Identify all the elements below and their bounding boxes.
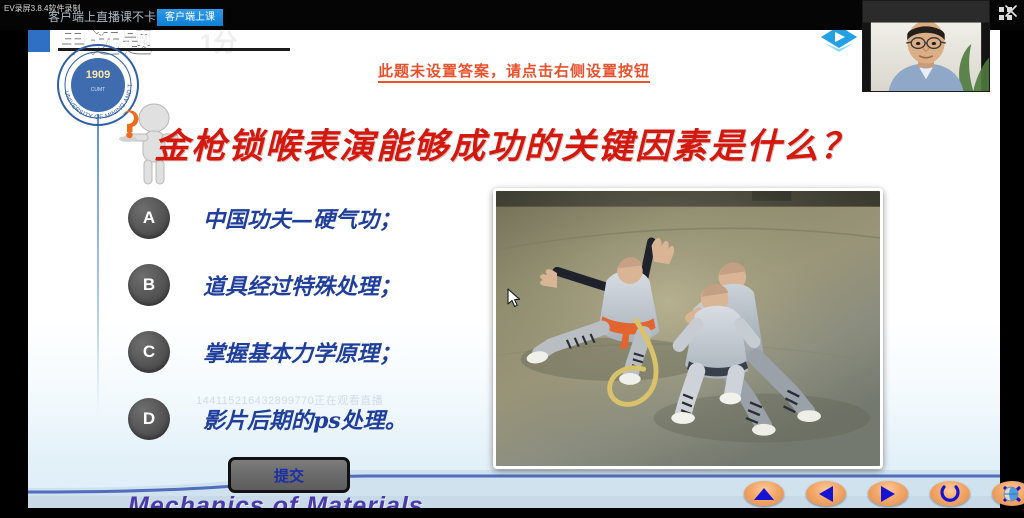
option-row-b[interactable]: B 道具经过特殊处理； (128, 251, 488, 318)
presentation-slide: 单选题 1分 1909 CUMT UNIVERSITY OF MINING AN… (28, 14, 1000, 510)
option-text-c: 掌握基本力学原理； (203, 336, 401, 368)
viewer-id-watermark: 144115216432899770正在观看直播 (196, 392, 383, 408)
submit-button[interactable]: 提交 (228, 457, 350, 493)
nav-prev-button[interactable] (806, 481, 846, 506)
nav-refresh-button[interactable] (930, 481, 970, 506)
question-text: 金枪锁喉表演能够成功的关键因素是什么？ (154, 118, 857, 169)
screen-recording-window: 单选题 1分 1909 CUMT UNIVERSITY OF MINING AN… (0, 0, 1024, 518)
grid-view-icon[interactable] (998, 6, 1014, 22)
option-text-b: 道具经过特殊处理； (203, 269, 401, 301)
nav-up-button[interactable] (744, 481, 784, 506)
option-key-b[interactable]: B (128, 264, 170, 306)
options-list: A 中国功夫—硬气功； B 道具经过特殊处理； C 掌握基本力学原理； D 影片… (128, 184, 488, 452)
no-answer-notice-text: 此题未设置答案，请点击右侧设置按钮 (378, 63, 650, 83)
performance-photo (493, 188, 883, 469)
tab-client-class[interactable]: 客户端上课 (157, 9, 223, 26)
mouse-cursor (506, 288, 522, 310)
right-letterbox (1000, 0, 1024, 518)
option-row-a[interactable]: A 中国功夫—硬气功； (128, 184, 488, 251)
option-text-a: 中国功夫—硬气功； (203, 202, 401, 234)
crest-connector-line (97, 114, 99, 414)
left-letterbox (0, 0, 28, 518)
presenter-webcam[interactable] (862, 0, 990, 92)
bottom-letterbox (0, 508, 1024, 518)
no-answer-notice: 此题未设置答案，请点击右侧设置按钮 (28, 60, 1000, 81)
option-row-c[interactable]: C 掌握基本力学原理； (128, 318, 488, 385)
slide-nav-controls (744, 481, 1024, 506)
option-key-c[interactable]: C (128, 331, 170, 373)
option-key-d[interactable]: D (128, 398, 170, 440)
nav-next-button[interactable] (868, 481, 908, 506)
globe-icon[interactable] (1003, 486, 1019, 502)
option-key-a[interactable]: A (128, 197, 170, 239)
recorder-watermark: EV录屏3.8.4软件录制 (4, 3, 80, 14)
svg-text:CUMT: CUMT (91, 87, 105, 93)
